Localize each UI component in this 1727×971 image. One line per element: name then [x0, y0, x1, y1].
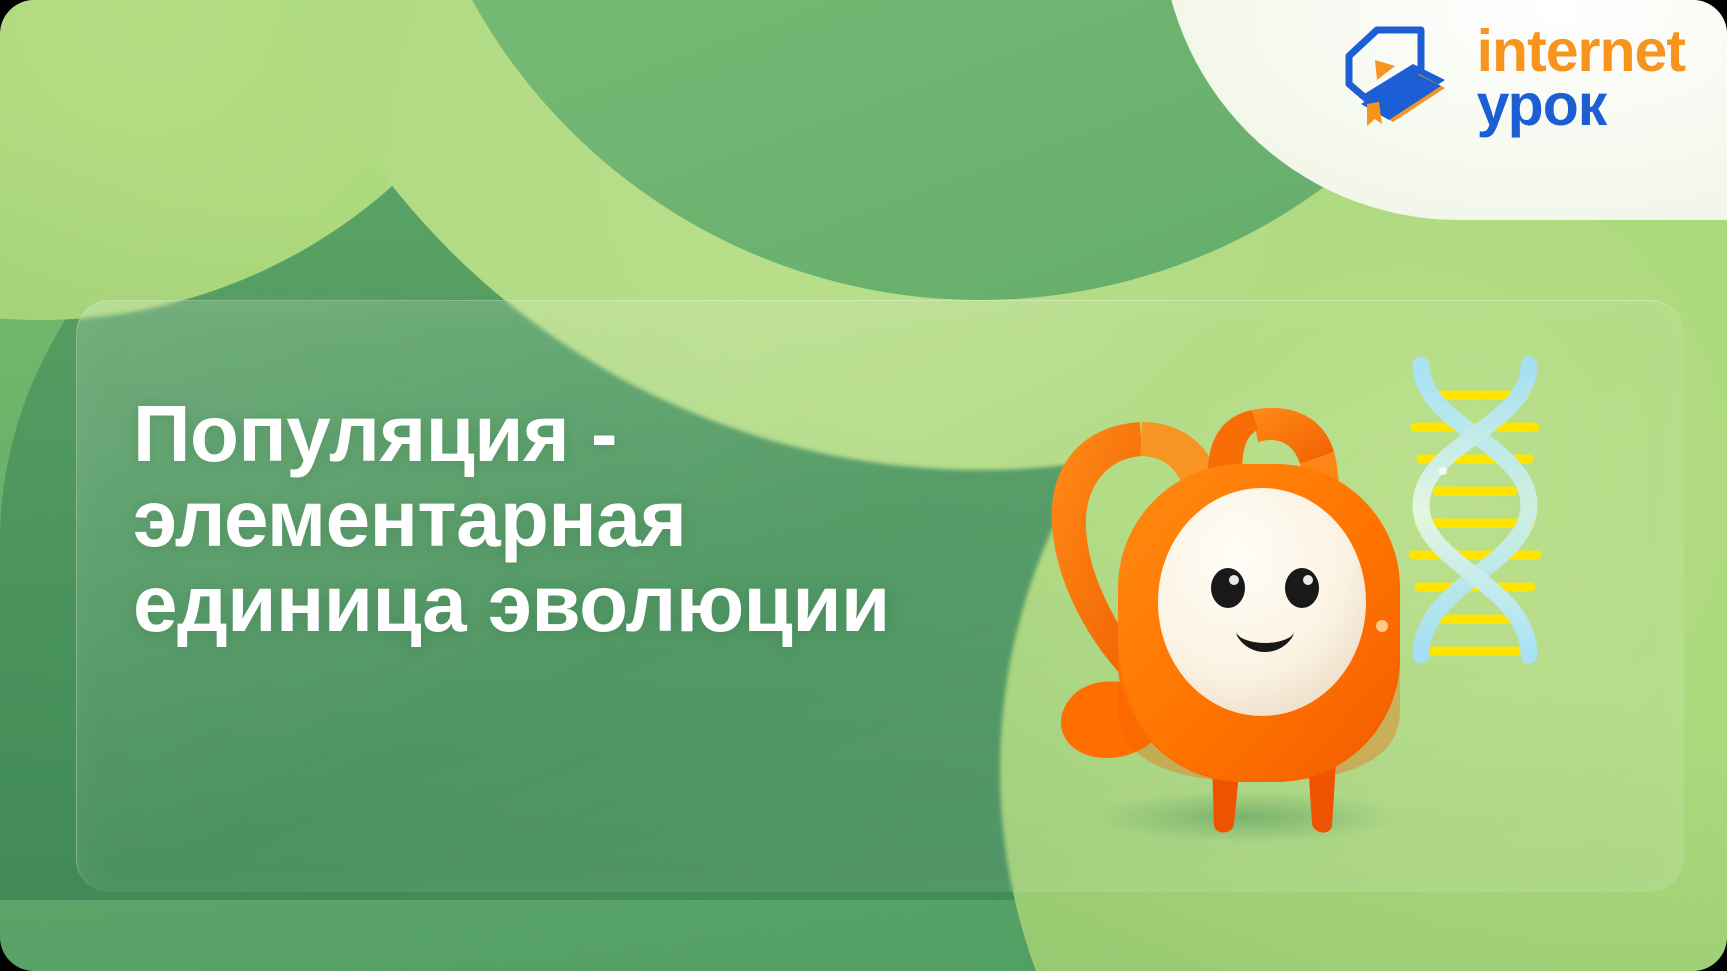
- dna-illustration: [1385, 355, 1565, 675]
- mascot-eye-right: [1285, 568, 1319, 608]
- brand-name-urok: урок: [1477, 78, 1685, 132]
- brand-logo[interactable]: internet урок: [1337, 22, 1685, 134]
- page-title: Популяция - элементарная единица эволюци…: [133, 392, 1013, 646]
- page-title-line-2: элементарная: [133, 477, 1013, 562]
- mascot-shadow: [1095, 791, 1395, 843]
- brand-name-internet: internet: [1477, 24, 1685, 78]
- laptop-book-play-icon: [1337, 22, 1455, 134]
- mascot-eye-left: [1211, 568, 1245, 608]
- mascot-face: [1158, 488, 1366, 716]
- slide-canvas: Популяция - элементарная единица эволюци…: [0, 0, 1727, 971]
- page-title-line-1: Популяция -: [133, 392, 1013, 477]
- mascot-strap-right: [1252, 408, 1334, 464]
- brand-wordmark: internet урок: [1477, 24, 1685, 133]
- page-title-line-3: единица эволюции: [133, 562, 1013, 647]
